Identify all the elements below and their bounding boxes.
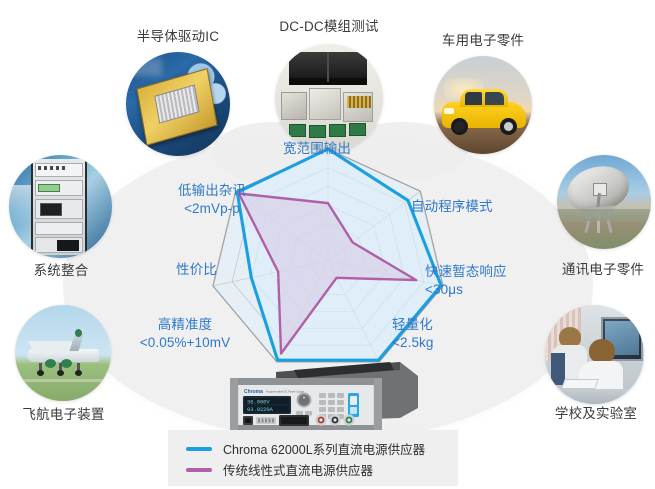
radar-label-cost-performance: 性价比 — [176, 261, 217, 279]
photo-semiconductor-driver-ic — [126, 52, 230, 156]
photo-communication-electronics — [557, 155, 651, 249]
radar-label-line1: 轻量化 — [392, 317, 433, 332]
svg-text:Chroma: Chroma — [244, 389, 263, 395]
legend-item-traditional: 传统线性式直流电源供应器 — [168, 459, 458, 480]
radar-label-fast-transient: 快速暂态响应 <30μs — [425, 263, 507, 299]
radar-label-line1: 高精准度 — [158, 317, 212, 332]
radar-label-lightweight: 轻量化 <2.5kg — [392, 316, 434, 352]
radar-label-line1: 性价比 — [176, 262, 217, 277]
photo-system-integration — [9, 155, 112, 258]
caption-communication-electronics: 通讯电子零件 — [551, 262, 655, 279]
photo-avionics — [15, 305, 111, 401]
photo-chroma-power-supply: Chroma Programmable DC Power Supply 36.0… — [222, 356, 432, 438]
photo-automotive-electronics — [434, 56, 532, 154]
radar-label-low-output-noise: 低输出杂讯 <2mVp-p — [164, 182, 260, 218]
radar-label-line2: <2.5kg — [392, 334, 434, 352]
radar-label-line2: <30μs — [425, 281, 507, 299]
legend-label-chroma: Chroma 62000L系列直流电源供应器 — [223, 439, 425, 458]
svg-text:03.0220A: 03.0220A — [247, 407, 274, 413]
radar-label-high-accuracy: 高精准度 <0.05%+10mV — [121, 316, 249, 352]
radar-label-line1: 低输出杂讯 — [178, 183, 246, 198]
caption-system-integration: 系统整合 — [11, 263, 111, 280]
radar-label-auto-program-mode: 自动程序模式 — [411, 198, 493, 216]
radar-label-line1: 快速暂态响应 — [425, 264, 507, 279]
radar-label-line1: 宽范围输出 — [283, 141, 351, 156]
svg-text:Programmable DC Power Supply: Programmable DC Power Supply — [266, 390, 305, 394]
infographic-canvas: 半导体驱动IC DC-DC模组测试 — [0, 0, 655, 489]
radar-label-line2: <2mVp-p — [164, 200, 260, 218]
radar-label-line1: 自动程序模式 — [411, 199, 493, 214]
photo-dc-dc-module-test — [275, 44, 383, 152]
photo-schools-and-labs — [545, 305, 644, 404]
caption-schools-and-labs: 学校及实验室 — [540, 406, 652, 423]
legend-label-traditional: 传统线性式直流电源供应器 — [223, 460, 373, 479]
radar-label-line2: <0.05%+10mV — [121, 334, 249, 352]
legend-swatch-traditional — [186, 468, 212, 472]
legend-swatch-chroma — [186, 447, 212, 451]
svg-text:36.000V: 36.000V — [247, 399, 270, 405]
caption-automotive-electronics: 车用电子零件 — [383, 33, 583, 50]
chart-legend: Chroma 62000L系列直流电源供应器 传统线性式直流电源供应器 — [168, 430, 458, 486]
caption-avionics: 飞航电子装置 — [12, 407, 115, 424]
legend-item-chroma: Chroma 62000L系列直流电源供应器 — [168, 438, 458, 459]
radar-label-wide-range-output: 宽范围输出 — [283, 140, 351, 158]
